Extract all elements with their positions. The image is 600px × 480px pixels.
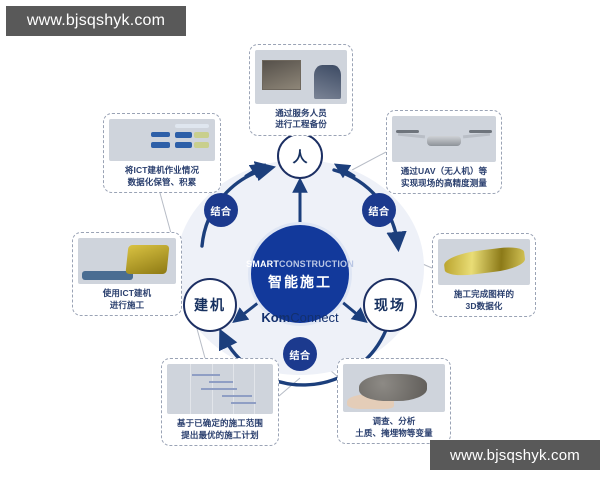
node-machine[interactable]: 建机 bbox=[183, 278, 237, 332]
card-uav-survey-caption: 通过UAV（无人机）等 实现现场的高精度测量 bbox=[401, 166, 487, 189]
badge-combine-right: 结合 bbox=[362, 193, 396, 227]
card-uav-survey[interactable]: 通过UAV（无人机）等 实现现场的高精度测量 bbox=[386, 110, 502, 194]
card-ict-machine-work-line2: 进行施工 bbox=[103, 300, 151, 311]
card-data-archive[interactable]: 将ICT建机作业情况 数据化保管、积累 bbox=[103, 113, 221, 193]
node-person-label: 人 bbox=[292, 146, 307, 167]
card-ict-machine-work[interactable]: 使用ICT建机 进行施工 bbox=[72, 232, 182, 316]
badge-combine-bottom-label: 结合 bbox=[290, 347, 311, 362]
badge-combine-right-label: 结合 bbox=[369, 203, 390, 218]
drone-photo-icon bbox=[392, 116, 496, 162]
watermark-bottom-text: www.bjsqshyk.com bbox=[450, 447, 580, 464]
card-ict-machine-work-caption: 使用ICT建机 进行施工 bbox=[103, 288, 151, 311]
brand-smart: SMART bbox=[246, 259, 279, 269]
node-site[interactable]: 现场 bbox=[363, 278, 417, 332]
card-uav-survey-line1: 通过UAV（无人机）等 bbox=[401, 166, 487, 177]
card-uav-survey-line2: 实现现场的高精度测量 bbox=[401, 178, 487, 189]
card-soil-analysis[interactable]: 调查、分析 土质、掩埋物等变量 bbox=[337, 358, 451, 444]
node-person[interactable]: 人 bbox=[277, 133, 323, 179]
card-data-archive-caption: 将ICT建机作业情况 数据化保管、积累 bbox=[125, 165, 199, 188]
office-service-photo-icon bbox=[255, 50, 347, 104]
watermark-bottom: www.bjsqshyk.com bbox=[430, 440, 600, 470]
data-dashboard-photo-icon bbox=[109, 119, 215, 161]
card-3d-asbuilt-line1: 施工完成图样的 bbox=[454, 289, 514, 300]
diagram-canvas: SMARTCONSTRUCTION 智能施工 KomConnect 人 建机 现… bbox=[0, 0, 600, 480]
card-3d-asbuilt[interactable]: 施工完成图样的 3D数据化 bbox=[432, 233, 536, 317]
card-service-backup-caption: 通过服务人员 进行工程备份 bbox=[275, 108, 327, 131]
badge-combine-left: 结合 bbox=[204, 193, 238, 227]
ict-excavator-photo-icon bbox=[78, 238, 176, 284]
node-machine-label: 建机 bbox=[194, 295, 226, 315]
card-construction-plan-caption: 基于已确定的施工范围 提出最优的施工计划 bbox=[177, 418, 263, 441]
komconnect-kom: Kom bbox=[261, 310, 290, 325]
card-data-archive-line1: 将ICT建机作业情况 bbox=[125, 165, 199, 176]
card-3d-asbuilt-caption: 施工完成图样的 3D数据化 bbox=[454, 289, 514, 312]
card-soil-analysis-caption: 调查、分析 土质、掩埋物等变量 bbox=[355, 416, 432, 439]
watermark-top: www.bjsqshyk.com bbox=[6, 6, 186, 36]
brand-title-cn: 智能施工 bbox=[268, 275, 332, 289]
komconnect-connect: Connect bbox=[290, 310, 338, 325]
brand-lockup: SMARTCONSTRUCTION bbox=[246, 260, 354, 269]
card-data-archive-line2: 数据化保管、积累 bbox=[125, 177, 199, 188]
soil-sample-photo-icon bbox=[343, 364, 445, 412]
card-soil-analysis-line2: 土质、掩埋物等变量 bbox=[355, 428, 432, 439]
badge-combine-bottom: 结合 bbox=[283, 337, 317, 371]
card-3d-asbuilt-line2: 3D数据化 bbox=[454, 301, 514, 312]
card-construction-plan[interactable]: 基于已确定的施工范围 提出最优的施工计划 bbox=[161, 358, 279, 446]
card-construction-plan-line2: 提出最优的施工计划 bbox=[177, 430, 263, 441]
komconnect-label: KomConnect bbox=[250, 311, 350, 324]
card-construction-plan-line1: 基于已确定的施工范围 bbox=[177, 418, 263, 429]
card-service-backup[interactable]: 通过服务人员 进行工程备份 bbox=[249, 44, 353, 136]
watermark-top-text: www.bjsqshyk.com bbox=[27, 12, 165, 30]
card-service-backup-line2: 进行工程备份 bbox=[275, 119, 327, 130]
gantt-chart-photo-icon bbox=[167, 364, 273, 414]
brand-construction: CONSTRUCTION bbox=[279, 259, 354, 269]
card-ict-machine-work-line1: 使用ICT建机 bbox=[103, 288, 151, 299]
card-soil-analysis-line1: 调查、分析 bbox=[355, 416, 432, 427]
badge-combine-left-label: 结合 bbox=[211, 203, 232, 218]
card-service-backup-line1: 通过服务人员 bbox=[275, 108, 327, 119]
node-site-label: 现场 bbox=[374, 295, 406, 315]
terrain-3d-photo-icon bbox=[438, 239, 530, 285]
